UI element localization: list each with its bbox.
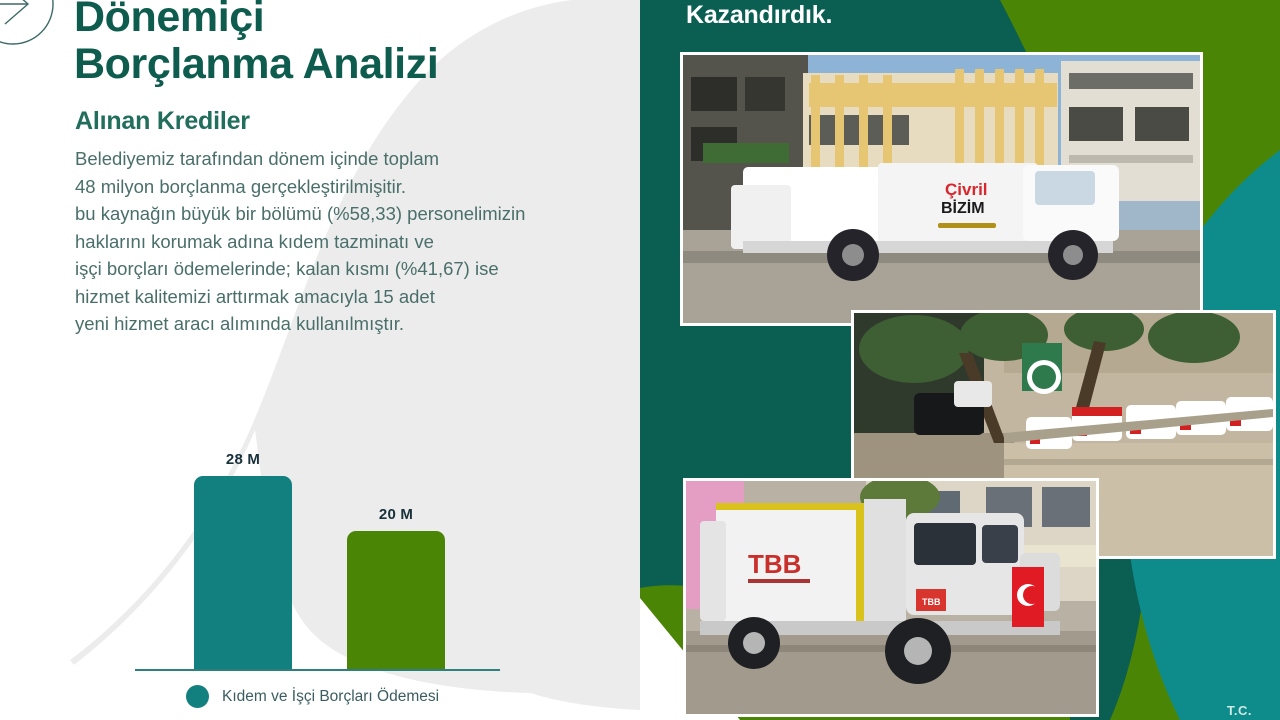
body-line: haklarını korumak adına kıdem tazminatı … xyxy=(75,228,620,256)
right-heading: Kazandırdık. xyxy=(686,1,832,30)
photo-garbage-truck-civril-bizim: Çivril BİZİM xyxy=(680,52,1203,326)
svg-text:BİZİM: BİZİM xyxy=(941,199,985,217)
right-media-panel: Kazandırdık. xyxy=(640,0,1280,720)
photo-garbage-truck-tbb: TBB TBB xyxy=(683,478,1099,717)
body-line: bu kaynağın büyük bir bölümü (%58,33) pe… xyxy=(75,200,620,228)
body-paragraph: Belediyemiz tarafından dönem içinde topl… xyxy=(75,145,620,338)
page-subtitle: Alınan Krediler xyxy=(75,107,250,136)
left-content-panel: Dönemiçi Borçlanma Analizi Alınan Kredil… xyxy=(0,0,640,720)
legend-color-swatch xyxy=(186,685,209,708)
title-line-1: Dönemiçi xyxy=(74,0,264,41)
legend-item-label: Kıdem ve İşçi Borçları Ödemesi xyxy=(222,688,439,706)
bar-kidem-isci-borclari xyxy=(194,476,292,669)
chart-legend: Kıdem ve İşçi Borçları Ödemesi xyxy=(186,685,439,708)
svg-text:TBB: TBB xyxy=(748,549,801,579)
bar-value-label: 20 M xyxy=(347,506,445,523)
body-line: hizmet kalitemizi arttırmak amacıyla 15 … xyxy=(75,283,620,311)
bar-hizmet-araci-alimi xyxy=(347,531,445,669)
page-title: Dönemiçi Borçlanma Analizi xyxy=(74,0,614,88)
body-line: 48 milyon borçlanma gerçekleştirilmişiti… xyxy=(75,173,620,201)
title-line-2: Borçlanma Analizi xyxy=(74,41,614,88)
body-line: Belediyemiz tarafından dönem içinde topl… xyxy=(75,145,620,173)
svg-text:TBB: TBB xyxy=(922,597,941,607)
svg-text:Çivril: Çivril xyxy=(945,180,988,199)
presentation-slide: Dönemiçi Borçlanma Analizi Alınan Kredil… xyxy=(0,0,1280,720)
body-line: yeni hizmet aracı alımında kullanılmıştı… xyxy=(75,310,620,338)
bar-value-label: 28 M xyxy=(194,451,292,468)
body-line: işçi borçları ödemelerinde; kalan kısmı … xyxy=(75,255,620,283)
page-mark: T.C. xyxy=(1227,703,1252,718)
chart-baseline xyxy=(135,669,500,671)
arrow-right-circle-icon xyxy=(0,0,56,60)
bar-chart: 28 M 20 M xyxy=(0,400,640,720)
